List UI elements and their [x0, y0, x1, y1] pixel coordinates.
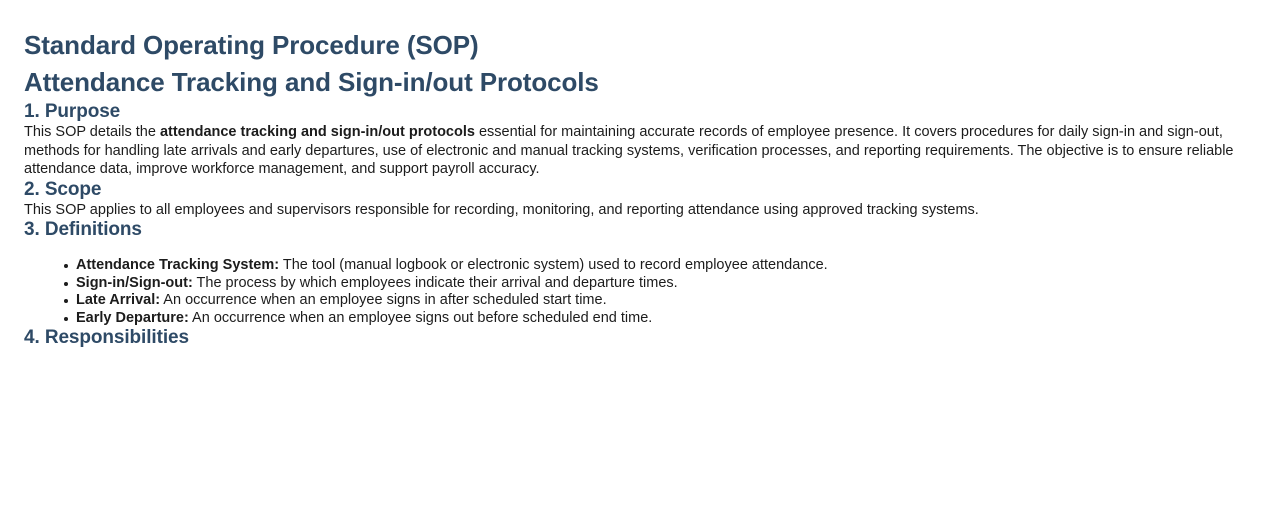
- section-body-purpose: This SOP details the attendance tracking…: [24, 123, 1239, 179]
- definition-term: Late Arrival:: [76, 292, 160, 308]
- definition-term: Early Departure:: [76, 310, 189, 326]
- list-item: Early Departure: An occurrence when an e…: [64, 310, 1239, 328]
- section-heading-scope: 2. Scope: [24, 179, 1239, 201]
- page-title-line-2: Attendance Tracking and Sign-in/out Prot…: [24, 64, 1239, 101]
- document-page: Standard Operating Procedure (SOP) Atten…: [0, 0, 1263, 349]
- section-body-scope: This SOP applies to all employees and su…: [24, 201, 1239, 220]
- definition-text: The tool (manual logbook or electronic s…: [279, 257, 828, 273]
- section-heading-purpose: 1. Purpose: [24, 101, 1239, 123]
- section-heading-definitions: 3. Definitions: [24, 219, 1239, 241]
- purpose-text-emphasis: attendance tracking and sign-in/out prot…: [160, 124, 475, 140]
- definition-term: Attendance Tracking System:: [76, 257, 279, 273]
- definition-text: An occurrence when an employee signs in …: [160, 292, 607, 308]
- purpose-text-part-1: This SOP details the: [24, 124, 160, 140]
- page-title-line-1: Standard Operating Procedure (SOP): [24, 27, 1239, 64]
- list-item: Sign-in/Sign-out: The process by which e…: [64, 275, 1239, 293]
- definition-text: An occurrence when an employee signs out…: [189, 310, 652, 326]
- definitions-list: Attendance Tracking System: The tool (ma…: [24, 257, 1239, 327]
- section-heading-responsibilities: 4. Responsibilities: [24, 327, 1239, 349]
- definition-term: Sign-in/Sign-out:: [76, 275, 193, 291]
- list-item: Late Arrival: An occurrence when an empl…: [64, 292, 1239, 310]
- page-title: Standard Operating Procedure (SOP) Atten…: [24, 0, 1239, 101]
- definition-text: The process by which employees indicate …: [193, 275, 678, 291]
- list-item: Attendance Tracking System: The tool (ma…: [64, 257, 1239, 275]
